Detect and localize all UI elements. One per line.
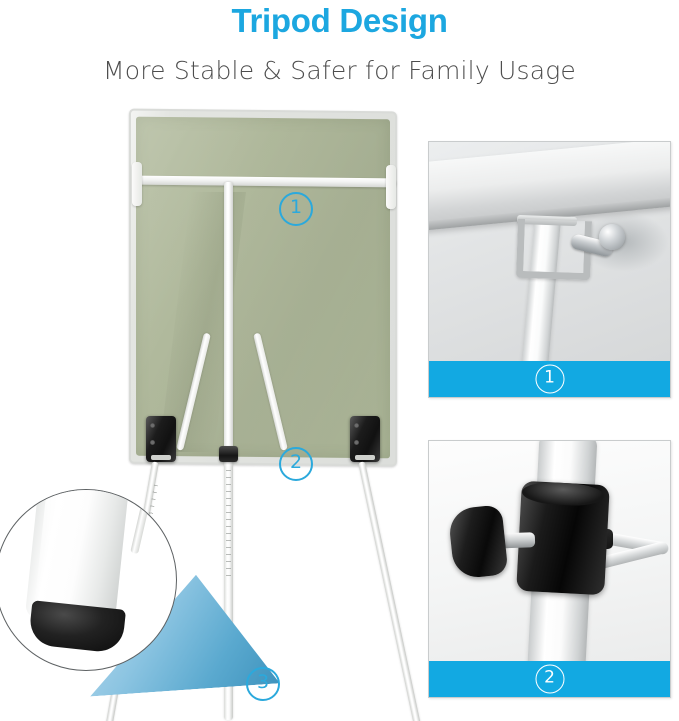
bracket-screw-icon <box>354 423 359 428</box>
page-subtitle: More Stable & Safer for Family Usage <box>0 56 679 85</box>
tripod-leg-right <box>358 461 433 721</box>
detail-panel-1: 1 <box>428 141 671 398</box>
panel-2-number-badge: 2 <box>535 665 564 694</box>
callout-marker-3: 3 <box>246 667 280 701</box>
rubber-foot-cap <box>28 600 126 654</box>
bracket-screw-icon <box>150 423 155 428</box>
center-pole-upper <box>224 182 233 452</box>
detail-panel-2-banner: 2 <box>429 661 670 697</box>
bracket-screw-icon <box>354 440 359 445</box>
rail-end-right-bracket <box>386 165 396 209</box>
leg-foot-cap-magnifier <box>0 489 177 671</box>
detail-panel-2: 2 <box>428 440 671 698</box>
wing-screw-head-icon <box>599 224 625 250</box>
center-pole-clamp <box>219 446 238 462</box>
corner-bracket-left <box>146 416 176 462</box>
panel-1-number-badge: 1 <box>535 365 564 394</box>
detail-panel-1-photo <box>429 142 670 361</box>
bracket-lip <box>151 455 171 460</box>
center-pole-height-notches <box>226 470 231 580</box>
infographic-page: Tripod Design More Stable & Safer for Fa… <box>0 0 679 721</box>
callout-marker-1: 1 <box>279 192 313 226</box>
detail-panel-2-photo <box>429 441 670 661</box>
detail-panel-1-banner: 1 <box>429 361 670 397</box>
bracket-lip <box>355 455 375 460</box>
corner-bracket-right <box>350 416 380 462</box>
rail-end-left-bracket <box>132 162 142 206</box>
callout-marker-2: 2 <box>279 447 313 481</box>
bracket-screw-icon <box>150 440 155 445</box>
page-title: Tripod Design <box>0 2 679 40</box>
